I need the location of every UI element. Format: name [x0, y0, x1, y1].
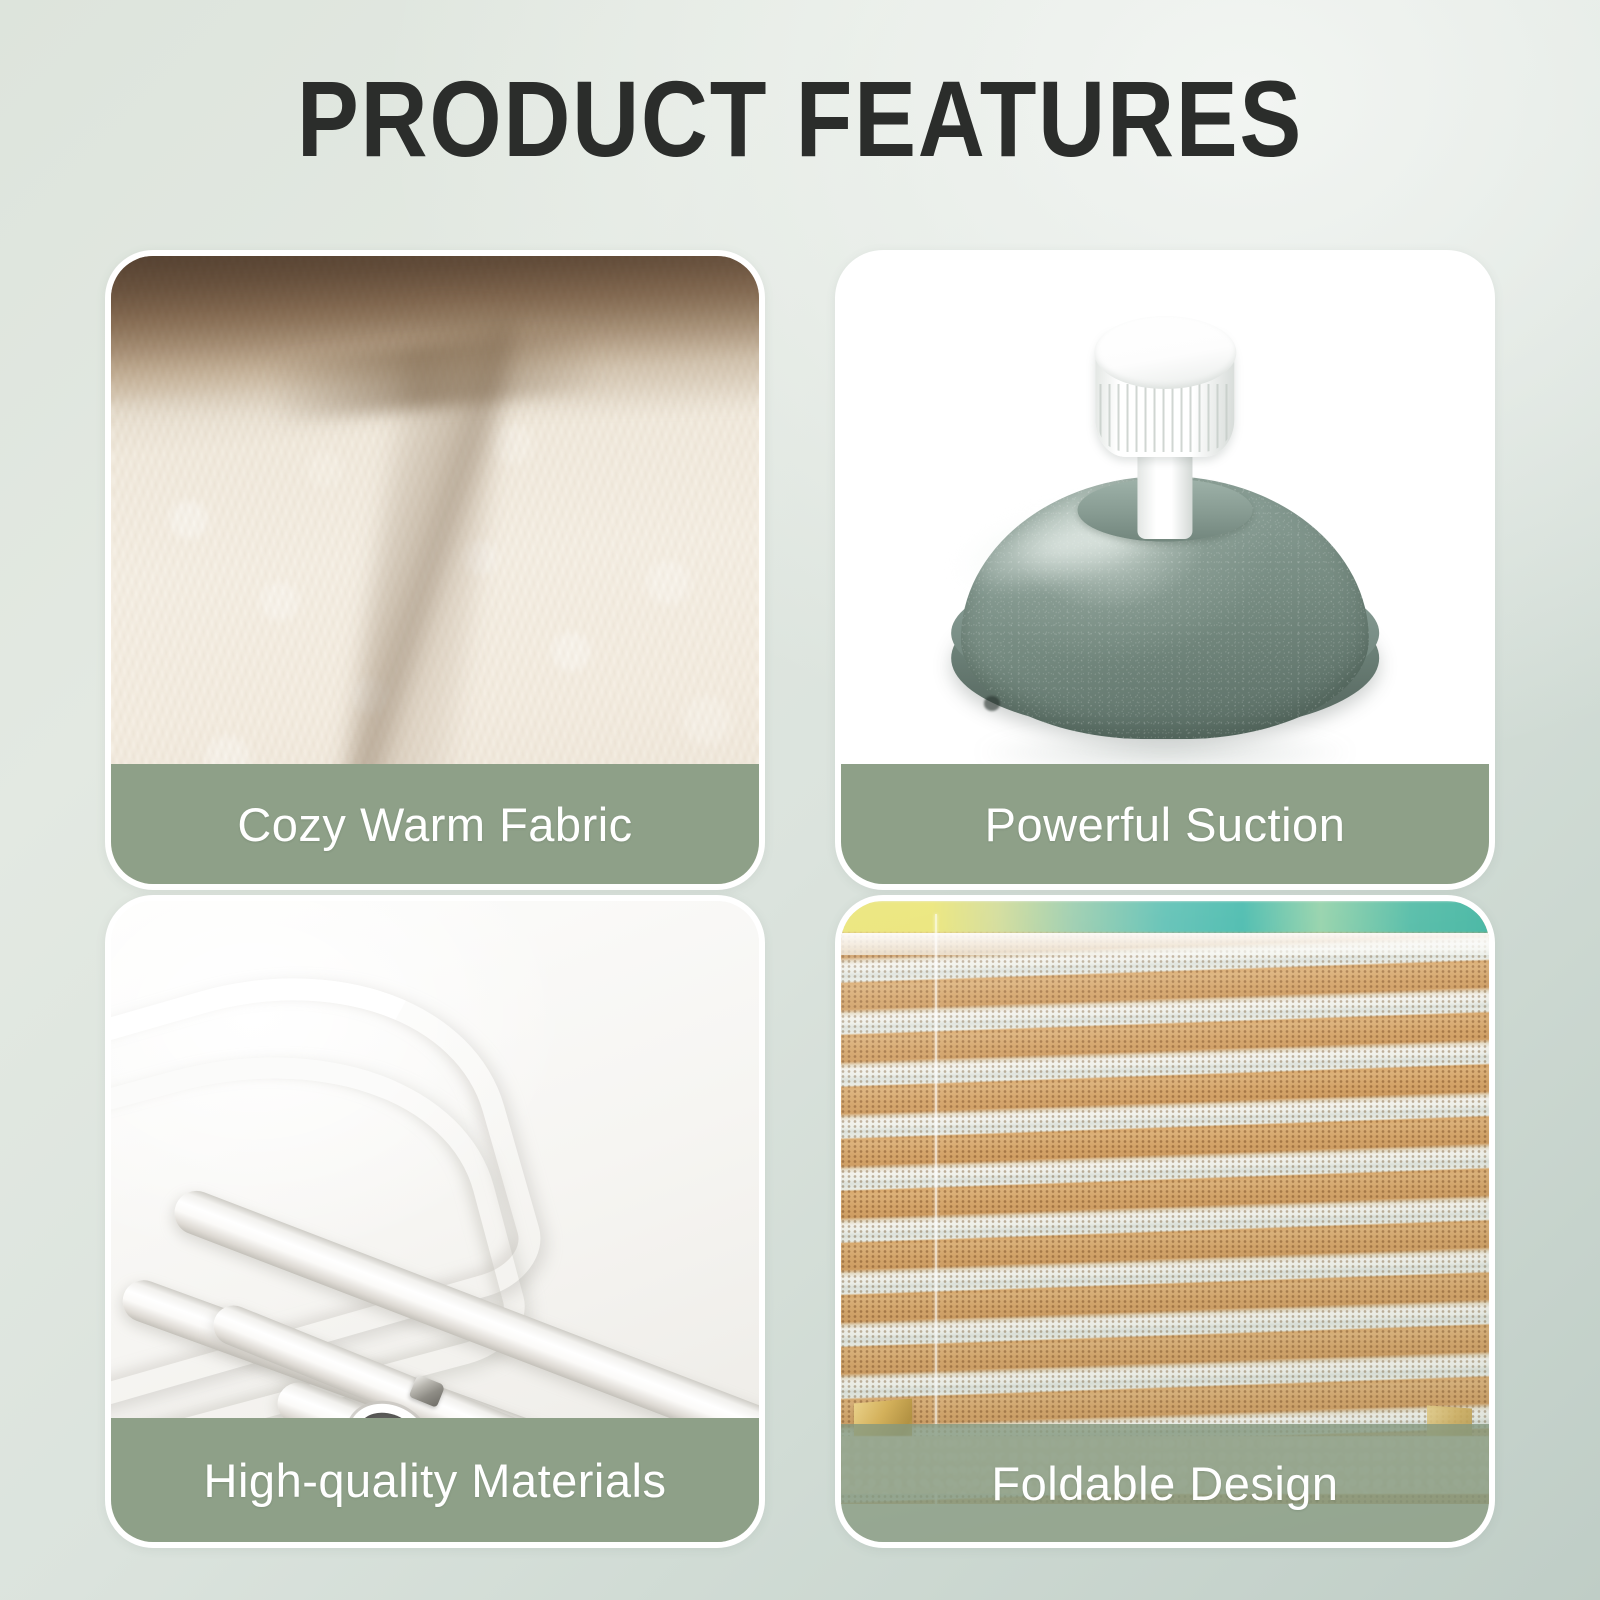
feature-card-cozy-warm-fabric[interactable]: Cozy Warm Fabric [105, 250, 765, 890]
page-title: PRODUCT FEATURES [112, 62, 1488, 175]
feature-label: Foldable Design [991, 1456, 1338, 1511]
feature-card-high-quality-materials[interactable]: High-quality Materials [105, 895, 765, 1548]
feature-label: Powerful Suction [985, 797, 1346, 852]
knob-flutes [1100, 384, 1231, 452]
feature-card-foldable-design[interactable]: Foldable Design [835, 895, 1495, 1548]
feature-card-powerful-suction[interactable]: Powerful Suction [835, 250, 1495, 890]
feature-label: Cozy Warm Fabric [237, 797, 632, 852]
feature-caption-bar: Foldable Design [841, 1424, 1489, 1542]
knob-cap [1094, 316, 1236, 389]
feature-caption-bar: High-quality Materials [111, 1418, 759, 1542]
feature-card-grid: Cozy Warm Fabric Powerful Suction [105, 250, 1495, 1548]
feature-caption-bar: Cozy Warm Fabric [111, 764, 759, 884]
rim-notch [984, 696, 1001, 711]
suction-knob [1095, 331, 1234, 457]
feature-label: High-quality Materials [204, 1453, 667, 1508]
product-features-page: PRODUCT FEATURES Cozy Warm Fabric [0, 0, 1600, 1600]
feature-caption-bar: Powerful Suction [841, 764, 1489, 884]
